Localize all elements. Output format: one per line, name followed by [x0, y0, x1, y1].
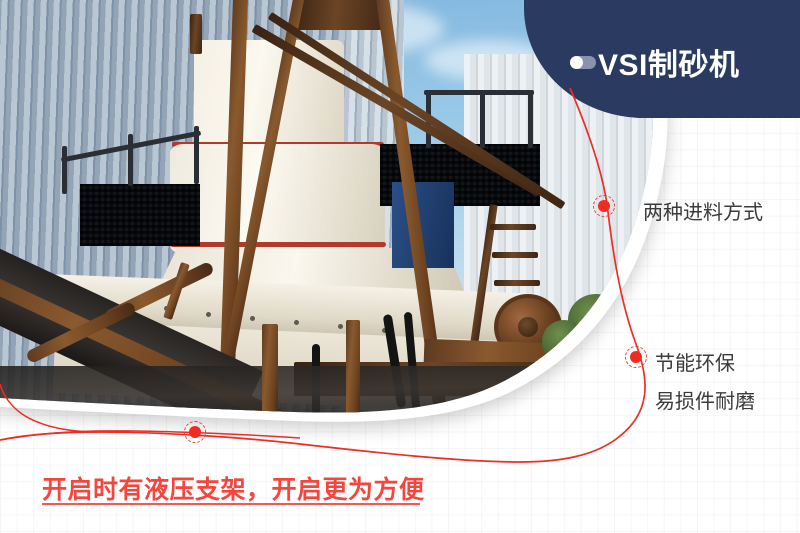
support-leg: [262, 324, 278, 414]
feature-dot-marker: [593, 195, 615, 217]
stair-step: [490, 224, 536, 230]
bolt: [338, 324, 343, 329]
bolt: [294, 320, 299, 325]
crusher-red-band: [170, 242, 386, 247]
promo-banner: VSI制砂机 两种进料方式 节能环保 易损件耐磨 开启时有液压支架，开启更为方便: [0, 0, 800, 533]
bottom-caption: 开启时有液压支架，开启更为方便: [42, 470, 425, 506]
handrail-post: [62, 146, 67, 194]
platform-grating-left: [80, 184, 200, 246]
connector-curve-bottom: [0, 432, 520, 462]
feature-label-1: 两种进料方式: [643, 196, 763, 225]
support-leg: [346, 320, 360, 414]
motor-hub: [518, 317, 538, 337]
handrail-post: [480, 90, 485, 148]
pill-bullet-icon: [570, 56, 596, 69]
feature-label-2: 节能环保: [655, 347, 735, 376]
feed-chute: [294, 0, 388, 30]
handrail-post: [128, 134, 133, 186]
feature-label-3: 易损件耐磨: [655, 385, 755, 414]
bolt: [206, 312, 211, 317]
title-panel-inner: VSI制砂机: [524, 0, 800, 118]
bolt: [250, 316, 255, 321]
caption-dot-marker: [184, 421, 206, 443]
connector-curve-left-tail: [0, 431, 300, 440]
stair-step: [492, 252, 538, 258]
exhaust-pipe: [190, 14, 202, 54]
bottom-caption-underline: [42, 503, 420, 505]
crusher-main-cylinder: [170, 144, 385, 254]
handrail: [424, 90, 534, 95]
stair-step: [494, 280, 540, 286]
feature-dot-marker: [625, 346, 647, 368]
page-title: VSI制砂机: [598, 40, 739, 84]
handrail-post: [194, 126, 199, 184]
title-panel: VSI制砂机: [524, 0, 800, 118]
